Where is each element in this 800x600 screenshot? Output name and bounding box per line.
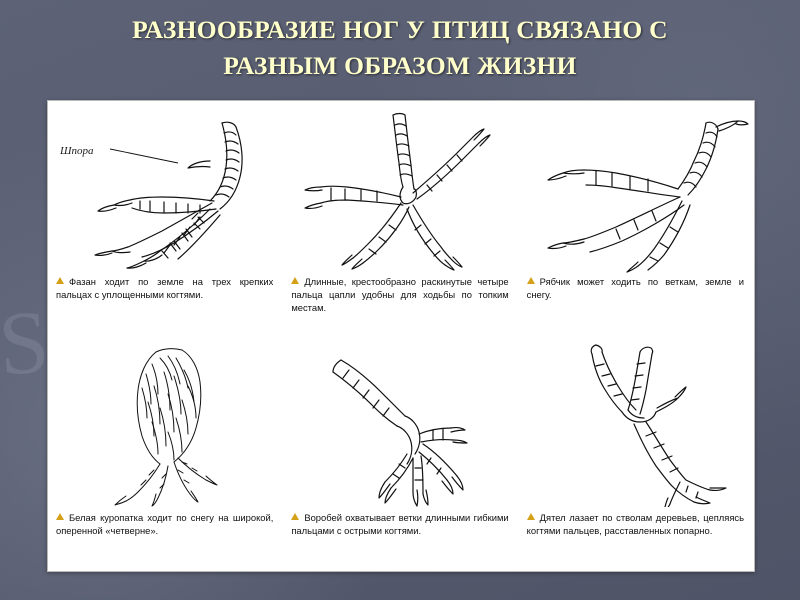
page-title-line-1: РАЗНООБРАЗИЕ НОГ У ПТИЦ СВЯЗАНО С <box>0 12 800 48</box>
bird-foot-woodpecker-icon <box>519 339 754 509</box>
bird-foot-sparrow-icon <box>283 339 518 509</box>
caption-sparrow: Воробей охватывает ветки длинными гибким… <box>283 509 518 571</box>
figure-cell-woodpecker: Дятел лазает по стволам деревьев, цепляя… <box>519 339 754 571</box>
figure-cell-pheasant: Шпора Фазан ходит по земле на трех крепк… <box>48 101 283 339</box>
caption-ptarmigan: Белая куропатка ходит по снегу на широко… <box>48 509 283 571</box>
figure-cell-ptarmigan: Белая куропатка ходит по снегу на широко… <box>48 339 283 571</box>
caption-heron: Длинные, крестообразно раскинутые четыре… <box>283 273 518 339</box>
bullet-triangle-icon <box>527 277 535 284</box>
figure-cell-hazel-grouse: Рябчик может ходить по веткам, земле и с… <box>519 101 754 339</box>
caption-pheasant: Фазан ходит по земле на трех крепких пал… <box>48 273 283 339</box>
bird-foot-heron-icon <box>283 101 518 273</box>
figure-cell-heron: Длинные, крестообразно раскинутые четыре… <box>283 101 518 339</box>
bird-foot-hazel-grouse-icon <box>519 101 754 273</box>
bullet-triangle-icon <box>527 513 535 520</box>
figure-cell-sparrow: Воробей охватывает ветки длинными гибким… <box>283 339 518 571</box>
content-panel: Шпора Фазан ходит по земле на трех крепк… <box>47 100 755 572</box>
caption-woodpecker: Дятел лазает по стволам деревьев, цепляя… <box>519 509 754 571</box>
annotation-spur: Шпора <box>60 145 93 157</box>
figure-grid: Шпора Фазан ходит по земле на трех крепк… <box>48 101 754 571</box>
caption-hazel-grouse: Рябчик может ходить по веткам, земле и с… <box>519 273 754 339</box>
page-title: РАЗНООБРАЗИЕ НОГ У ПТИЦ СВЯЗАНО С РАЗНЫМ… <box>0 12 800 84</box>
bullet-triangle-icon <box>291 277 299 284</box>
page-title-line-2: РАЗНЫМ ОБРАЗОМ ЖИЗНИ <box>0 48 800 84</box>
bullet-triangle-icon <box>56 513 64 520</box>
bullet-triangle-icon <box>291 513 299 520</box>
bird-foot-pheasant-icon: Шпора <box>48 101 283 273</box>
bullet-triangle-icon <box>56 277 64 284</box>
bird-foot-ptarmigan-icon <box>48 339 283 509</box>
